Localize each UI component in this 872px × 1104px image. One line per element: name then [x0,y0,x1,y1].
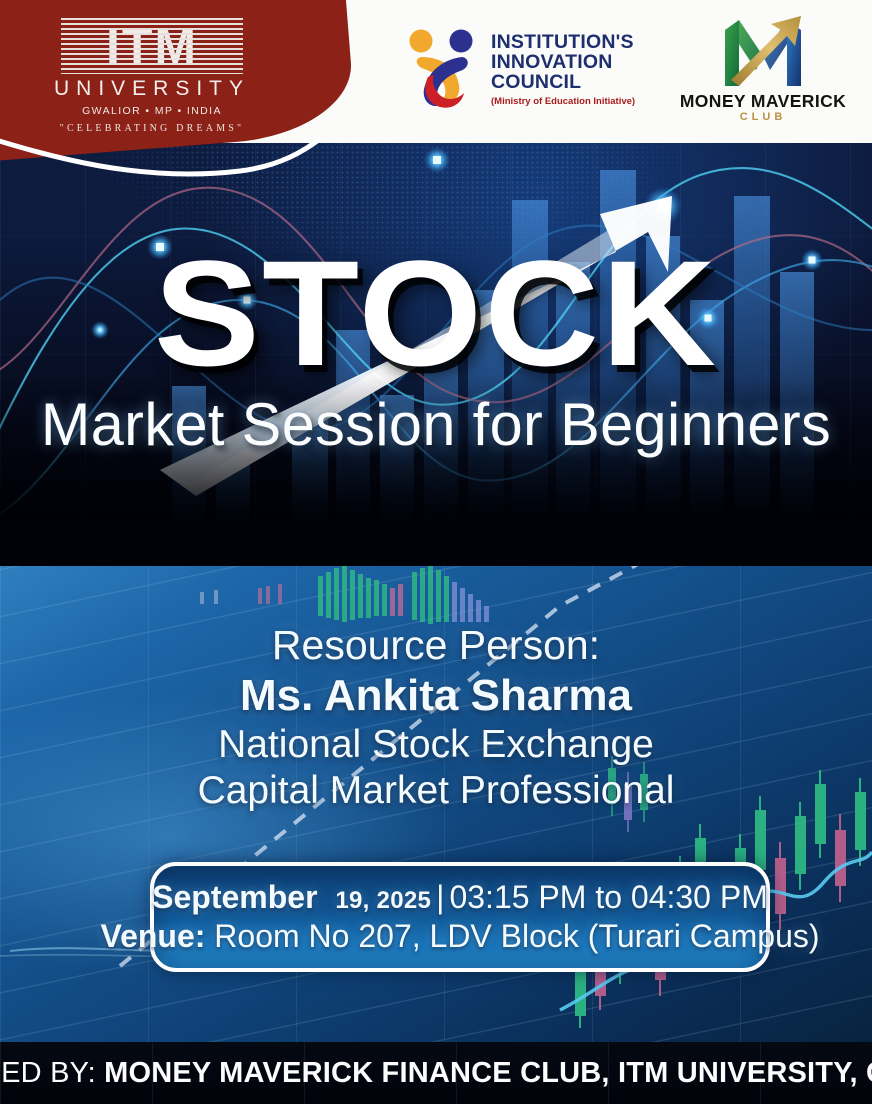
speaker-designation: Capital Market Professional [0,769,872,813]
event-time: 03:15 PM to 04:30 PM [449,879,767,915]
iic-text-block: INSTITUTION'S INNOVATION COUNCIL (Minist… [491,33,635,106]
money-maverick-name: MONEY MAVERICK [668,91,858,112]
speaker-organisation: National Stock Exchange [0,723,872,767]
event-separator: | [431,879,449,915]
event-venue-row: Venue: Room No 207, LDV Block (Turari Ca… [100,918,819,956]
resource-person-label: Resource Person: [0,622,872,669]
speaker-name: Ms. Ankita Sharma [0,671,872,721]
itm-location-text: GWALIOR • MP • INDIA [52,105,252,117]
itm-university-logo: ITM UNIVERSITY GWALIOR • MP • INDIA "CEL… [52,18,252,126]
event-poster: ITM UNIVERSITY GWALIOR • MP • INDIA "CEL… [0,0,872,1104]
poster-title: STOCK [0,250,872,376]
iic-line-3: COUNCIL [491,73,635,93]
organised-by-text: ORGANISED BY: MONEY MAVERICK FINANCE CLU… [0,1057,872,1090]
event-details-box: September 19, 2025|03:15 PM to 04:30 PM … [150,862,770,972]
itm-wordmark-icon: ITM [61,18,243,74]
poster-title-block: STOCK Market Session for Beginners [0,250,872,459]
iic-emblem-icon [404,27,482,113]
speaker-block: Resource Person: Ms. Ankita Sharma Natio… [0,622,872,814]
money-maverick-logo: MONEY MAVERICK CLUB [668,12,858,130]
footer-band: ORGANISED BY: MONEY MAVERICK FINANCE CLU… [0,1042,872,1104]
itm-stripe-overlay [61,18,243,74]
iic-logo: INSTITUTION'S INNOVATION COUNCIL (Minist… [404,18,635,122]
organised-by-label: ORGANISED BY: [0,1057,96,1089]
maroon-swoosh-outline [0,133,320,193]
itm-tagline-text: "CELEBRATING DREAMS" [52,123,252,134]
money-maverick-club-text: CLUB [668,111,858,123]
itm-university-text: UNIVERSITY [52,77,252,101]
venue-label: Venue: [100,918,205,954]
event-datetime-row: September 19, 2025|03:15 PM to 04:30 PM [152,879,768,917]
poster-subtitle: Market Session for Beginners [4,390,867,459]
organised-by-value: MONEY MAVERICK FINANCE CLUB, ITM UNIVERS… [104,1057,872,1089]
iic-ministry-note: (Ministry of Education Initiative) [491,97,635,107]
money-maverick-m-icon [715,12,811,90]
event-month: September [152,879,317,915]
venue-value: Room No 207, LDV Block (Turari Campus) [214,918,819,954]
event-day-year: 19, 2025 [335,887,431,914]
